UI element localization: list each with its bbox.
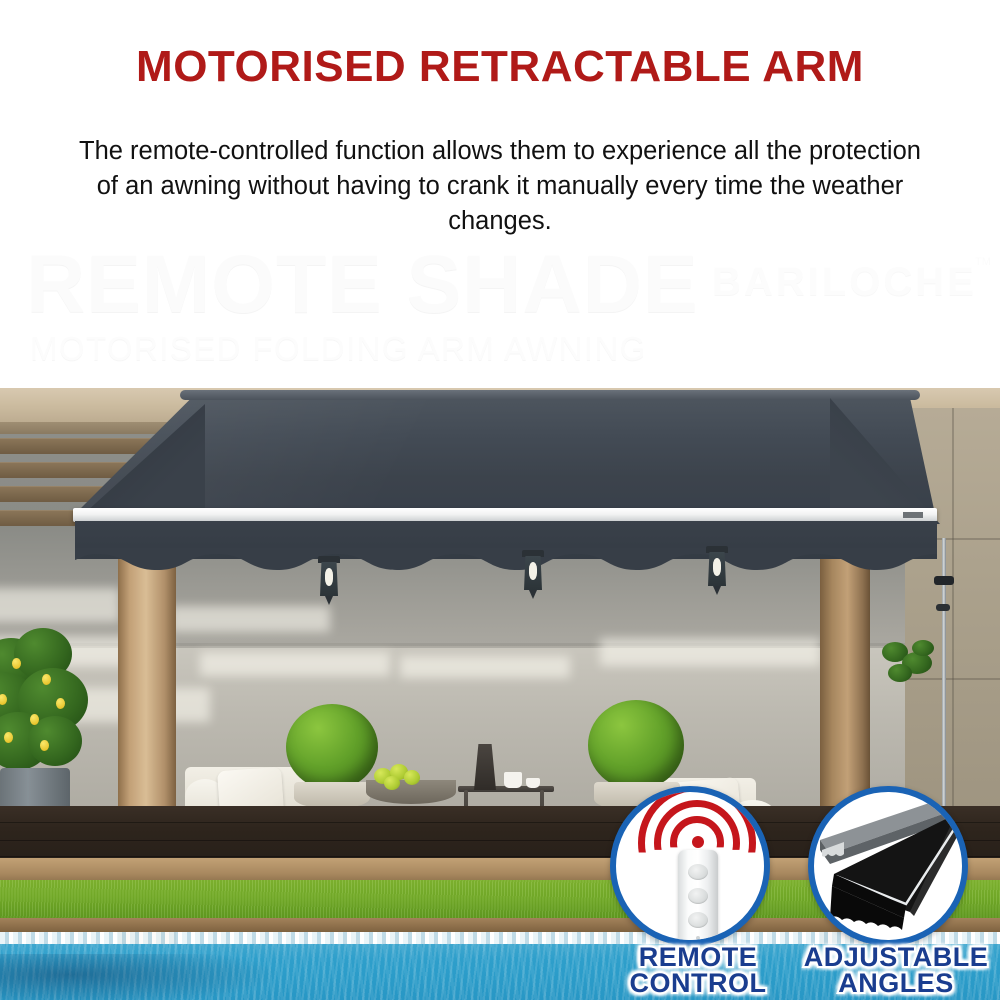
pool-shadow <box>0 954 280 1000</box>
remote-led <box>696 936 700 940</box>
wall-lantern <box>318 556 340 612</box>
page-title: MOTORISED RETRACTABLE ARM <box>0 42 1000 92</box>
badge-remote-control-label: REMOTE CONTROL <box>598 944 798 996</box>
valance-scalloped-edge <box>75 548 937 572</box>
sunlight-patch <box>600 638 820 666</box>
pole-bracket <box>934 576 954 585</box>
awning-angle-illustration <box>814 792 964 942</box>
awning-front-bar <box>73 508 937 522</box>
page-subtitle: The remote-controlled function allows th… <box>65 134 935 239</box>
adjustable-angles-icon <box>808 786 968 946</box>
fruit <box>384 776 400 790</box>
pole-bracket <box>936 604 950 611</box>
signal-origin-dot <box>692 836 704 848</box>
front-bar-end-cap <box>903 512 923 518</box>
sunlight-patch <box>170 606 330 632</box>
fruit <box>404 770 420 785</box>
wall-lantern <box>522 550 544 606</box>
remote-button <box>688 864 708 880</box>
lemon-tree <box>0 628 105 788</box>
wall-lantern <box>706 546 728 602</box>
sunlight-patch <box>200 652 390 676</box>
feature-badges: REMOTE CONTROL <box>600 786 1000 1000</box>
topiary-pot <box>294 782 370 808</box>
remote-button <box>688 888 708 904</box>
badge-label-line2: CONTROL <box>630 968 767 998</box>
cup <box>526 778 540 788</box>
topiary-bush <box>588 700 684 790</box>
header-text-block: MOTORISED RETRACTABLE ARM The remote-con… <box>0 0 1000 392</box>
teapot <box>504 772 522 788</box>
remote-button <box>688 912 708 928</box>
badge-label-line2: ANGLES <box>838 968 954 998</box>
remote-control-icon <box>610 786 770 946</box>
badge-adjustable-angles-label: ADJUSTABLE ANGLES <box>796 944 996 996</box>
sunlight-patch <box>400 656 570 678</box>
product-marketing-image: REMOTE SHADE MOTORISED FOLDING ARM AWNIN… <box>0 0 1000 1000</box>
topiary-bush <box>286 704 378 790</box>
sunlight-patch <box>0 588 120 622</box>
remote-handset <box>678 850 718 946</box>
foliage <box>876 638 946 698</box>
